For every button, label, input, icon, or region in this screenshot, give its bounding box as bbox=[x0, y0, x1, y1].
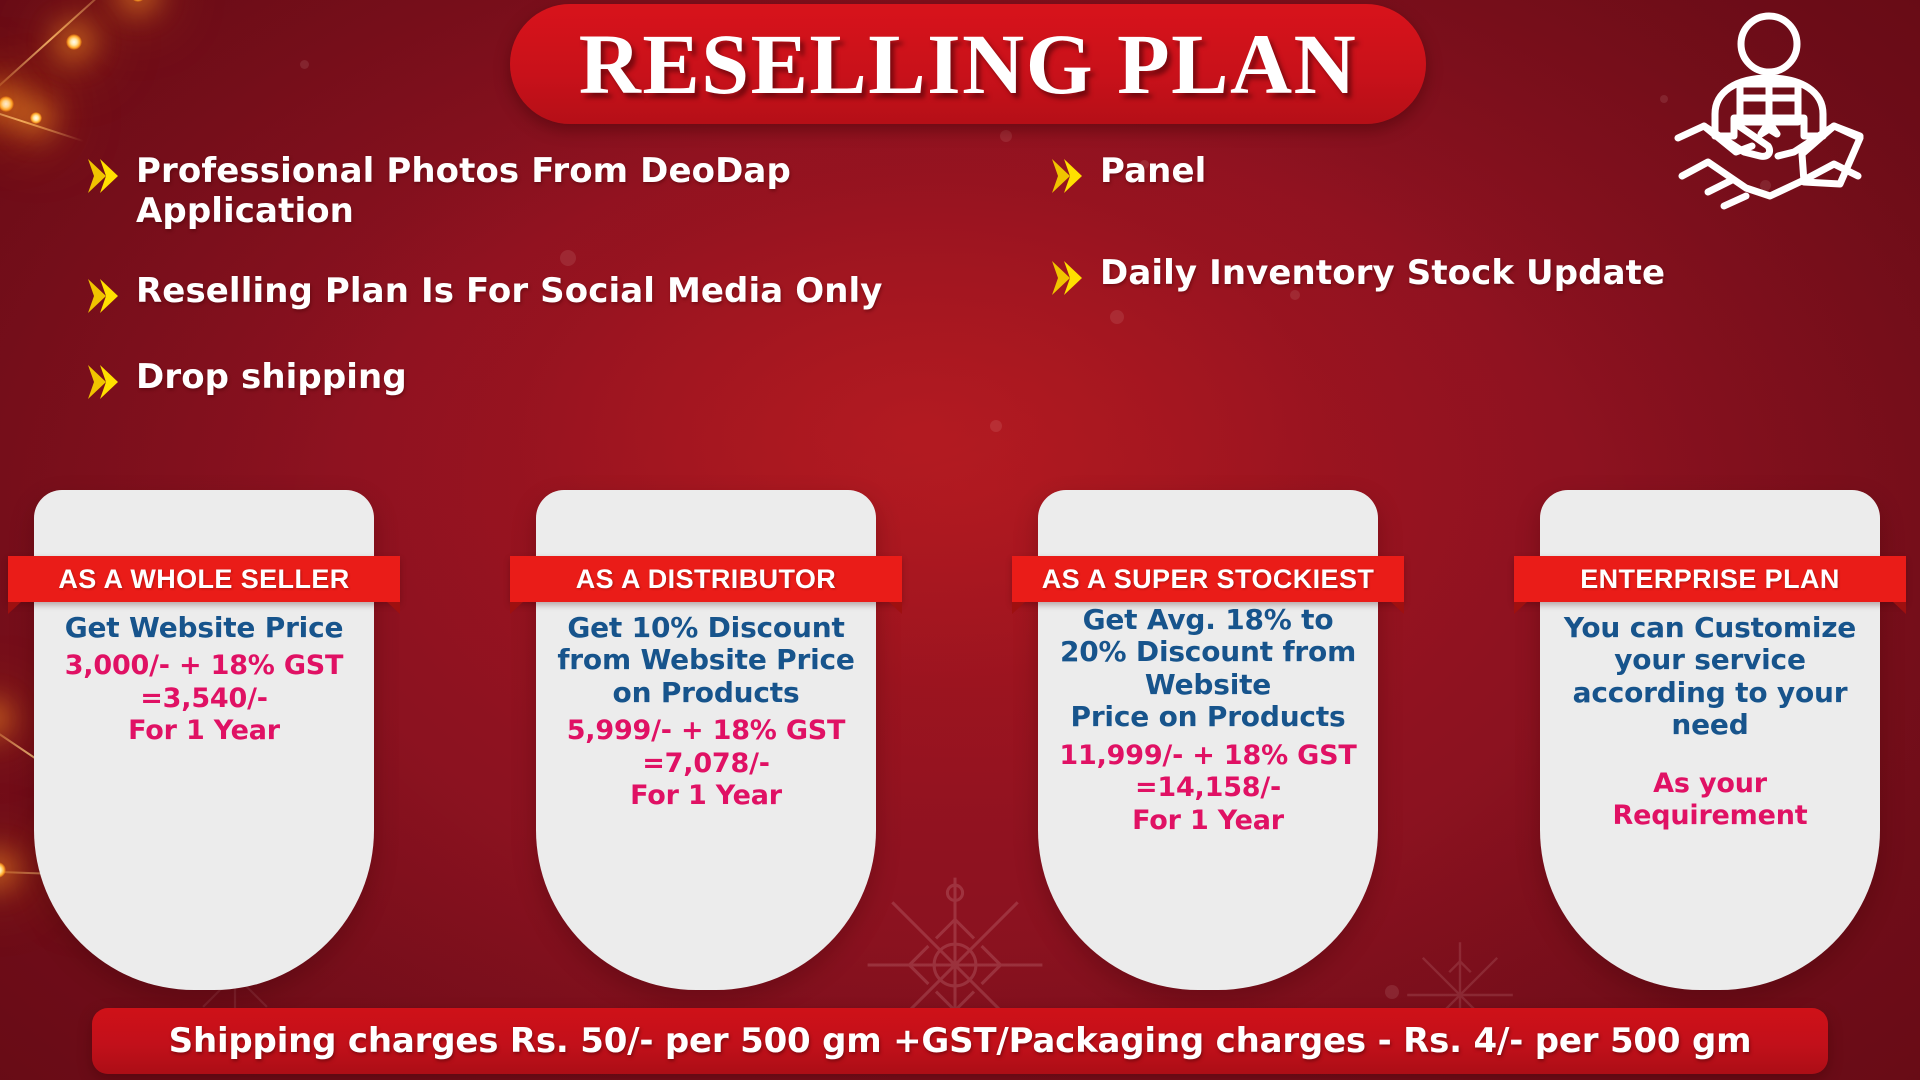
page-title: RESELLING PLAN bbox=[579, 21, 1357, 107]
plan-card-enterprise[interactable]: ENTERPRISE PLAN You can Customize your s… bbox=[1540, 490, 1880, 990]
feature-column-right: Panel Daily Inventory Stock Update bbox=[1050, 152, 1750, 338]
plan-heading: Get Avg. 18% to 20% Discount from Websit… bbox=[1050, 604, 1366, 734]
feature-item: Drop shipping bbox=[86, 358, 926, 402]
plan-price: 3,000/- + 18% GST =3,540/- For 1 Year bbox=[46, 650, 362, 747]
string-lights-top-left bbox=[0, 0, 240, 140]
plan-card-body: Get Website Price 3,000/- + 18% GST =3,5… bbox=[46, 612, 362, 748]
plan-ribbon-label: ENTERPRISE PLAN bbox=[1580, 564, 1840, 595]
plan-ribbon: AS A SUPER STOCKIEST bbox=[1012, 556, 1404, 602]
plan-ribbon: AS A WHOLE SELLER bbox=[8, 556, 400, 602]
plan-card-body: Get Avg. 18% to 20% Discount from Websit… bbox=[1050, 604, 1366, 837]
plan-price: 5,999/- + 18% GST =7,078/- For 1 Year bbox=[548, 715, 864, 812]
feature-label: Drop shipping bbox=[136, 358, 407, 398]
plan-heading: Get 10% Discount from Website Price on P… bbox=[548, 612, 864, 709]
bokeh-dot bbox=[300, 60, 309, 69]
double-chevron-right-icon bbox=[86, 156, 120, 196]
plan-heading: You can Customize your service according… bbox=[1552, 612, 1868, 742]
plan-card-body: You can Customize your service according… bbox=[1552, 612, 1868, 833]
bokeh-dot bbox=[1000, 130, 1012, 142]
plan-card-body: Get 10% Discount from Website Price on P… bbox=[548, 612, 864, 813]
feature-item: Reselling Plan Is For Social Media Only bbox=[86, 272, 926, 316]
feature-column-left: Professional Photos From DeoDap Applicat… bbox=[86, 152, 926, 442]
feature-label: Daily Inventory Stock Update bbox=[1100, 254, 1665, 294]
double-chevron-right-icon bbox=[86, 362, 120, 402]
feature-item: Professional Photos From DeoDap Applicat… bbox=[86, 152, 926, 232]
bokeh-dot bbox=[1660, 95, 1668, 103]
double-chevron-right-icon bbox=[1050, 156, 1084, 196]
feature-item: Panel bbox=[1050, 152, 1750, 196]
plan-price: As your Requirement bbox=[1552, 768, 1868, 833]
plan-heading: Get Website Price bbox=[46, 612, 362, 644]
footer-banner: Shipping charges Rs. 50/- per 500 gm +GS… bbox=[92, 1008, 1828, 1074]
double-chevron-right-icon bbox=[86, 276, 120, 316]
plan-ribbon: ENTERPRISE PLAN bbox=[1514, 556, 1906, 602]
poster-canvas: RESELLING PLAN Pro bbox=[0, 0, 1920, 1080]
plan-ribbon-label: AS A DISTRIBUTOR bbox=[576, 564, 836, 595]
double-chevron-right-icon bbox=[1050, 258, 1084, 298]
feature-label: Panel bbox=[1100, 152, 1206, 192]
feature-label: Reselling Plan Is For Social Media Only bbox=[136, 272, 883, 312]
pricing-cards: AS A WHOLE SELLER Get Website Price 3,00… bbox=[0, 490, 1920, 1000]
feature-label: Professional Photos From DeoDap Applicat… bbox=[136, 152, 926, 232]
plan-card-super-stockiest[interactable]: AS A SUPER STOCKIEST Get Avg. 18% to 20%… bbox=[1038, 490, 1378, 990]
plan-ribbon-label: AS A SUPER STOCKIEST bbox=[1042, 564, 1375, 595]
plan-ribbon: AS A DISTRIBUTOR bbox=[510, 556, 902, 602]
title-banner: RESELLING PLAN bbox=[510, 4, 1426, 124]
plan-card-distributor[interactable]: AS A DISTRIBUTOR Get 10% Discount from W… bbox=[536, 490, 876, 990]
bokeh-dot bbox=[990, 420, 1002, 432]
plan-price: 11,999/- + 18% GST =14,158/- For 1 Year bbox=[1050, 740, 1366, 837]
plan-card-whole-seller[interactable]: AS A WHOLE SELLER Get Website Price 3,00… bbox=[34, 490, 374, 990]
plan-ribbon-label: AS A WHOLE SELLER bbox=[58, 564, 349, 595]
feature-item: Daily Inventory Stock Update bbox=[1050, 254, 1750, 298]
footer-note: Shipping charges Rs. 50/- per 500 gm +GS… bbox=[169, 1021, 1752, 1061]
